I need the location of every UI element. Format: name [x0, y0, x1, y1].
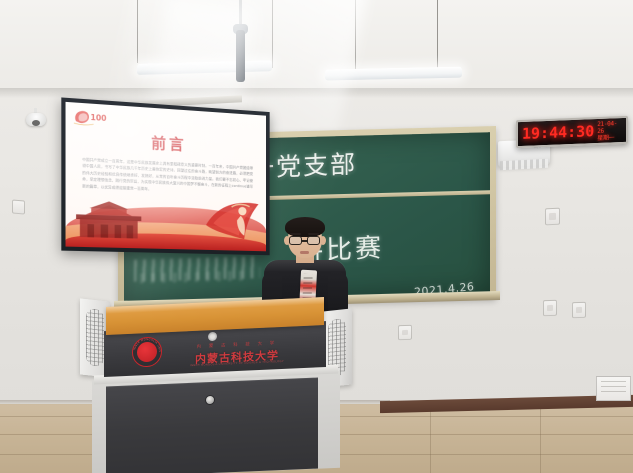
wall-socket-plate-4[interactable] — [572, 302, 586, 318]
hanging-projector-speaker — [236, 30, 245, 82]
presenter-eyebrow-left — [290, 233, 301, 235]
university-seal-icon: INNER MONGOLIA UNIVERSITY — [132, 336, 162, 367]
light-wire-1 — [137, 0, 138, 63]
wall-switch-plate-2[interactable] — [545, 208, 560, 226]
presenter-ear-right — [320, 236, 326, 245]
podium-cabinet-door[interactable] — [106, 378, 318, 473]
light-wire-4 — [437, 0, 438, 68]
slide-projection-glare — [66, 102, 266, 251]
eyeglasses-bridge — [302, 240, 307, 242]
led-clock-display: 19:44:30 21-04-26 星期一 — [516, 116, 628, 148]
wall-switch-plate-1[interactable] — [12, 200, 25, 215]
led-clock-date: 21-04-26 — [597, 120, 622, 135]
lectern-podium: INNER MONGOLIA UNIVERSITY 内 蒙 古 科 技 大 学 … — [60, 296, 370, 473]
wall-switch-plate-3[interactable] — [543, 300, 557, 316]
university-seal-ring-text: INNER MONGOLIA UNIVERSITY — [132, 336, 162, 367]
light-wire-3 — [355, 0, 356, 70]
svg-text:INNER MONGOLIA UNIVERSITY: INNER MONGOLIA UNIVERSITY — [132, 336, 162, 353]
presentation-slide: 100 前言 中国共产党成立一百周年，这是中华民族发展史上具有里程碑意义的重要时… — [66, 102, 266, 251]
led-clock-side-info: 21-04-26 星期一 — [597, 120, 622, 142]
wall-socket-plate-5[interactable] — [398, 325, 412, 340]
podium-desktop-highlight — [106, 297, 324, 314]
wall-sign-plate — [596, 376, 631, 401]
classroom-photo-scene: AUX 19:44:30 21-04-26 星期一 学生第一党支部 讲比赛 20… — [0, 0, 633, 473]
ceiling — [0, 0, 633, 96]
eyeglasses-icon — [289, 236, 302, 245]
speaker-mesh-left — [86, 308, 104, 367]
presenter-eyebrow-right — [308, 233, 319, 235]
led-clock-time: 19:44:30 — [522, 122, 594, 143]
projection-screen: 100 前言 中国共产党成立一百周年，这是中华民族发展史上具有里程碑意义的重要时… — [61, 97, 269, 255]
light-wire-2 — [272, 0, 273, 68]
eyeglasses-lens-right — [307, 236, 320, 245]
camera-lens-icon — [32, 120, 40, 126]
presenter-mouth — [300, 251, 309, 254]
ceiling-wall-shadow — [0, 88, 633, 98]
led-clock-weekday: 星期一 — [597, 134, 622, 142]
